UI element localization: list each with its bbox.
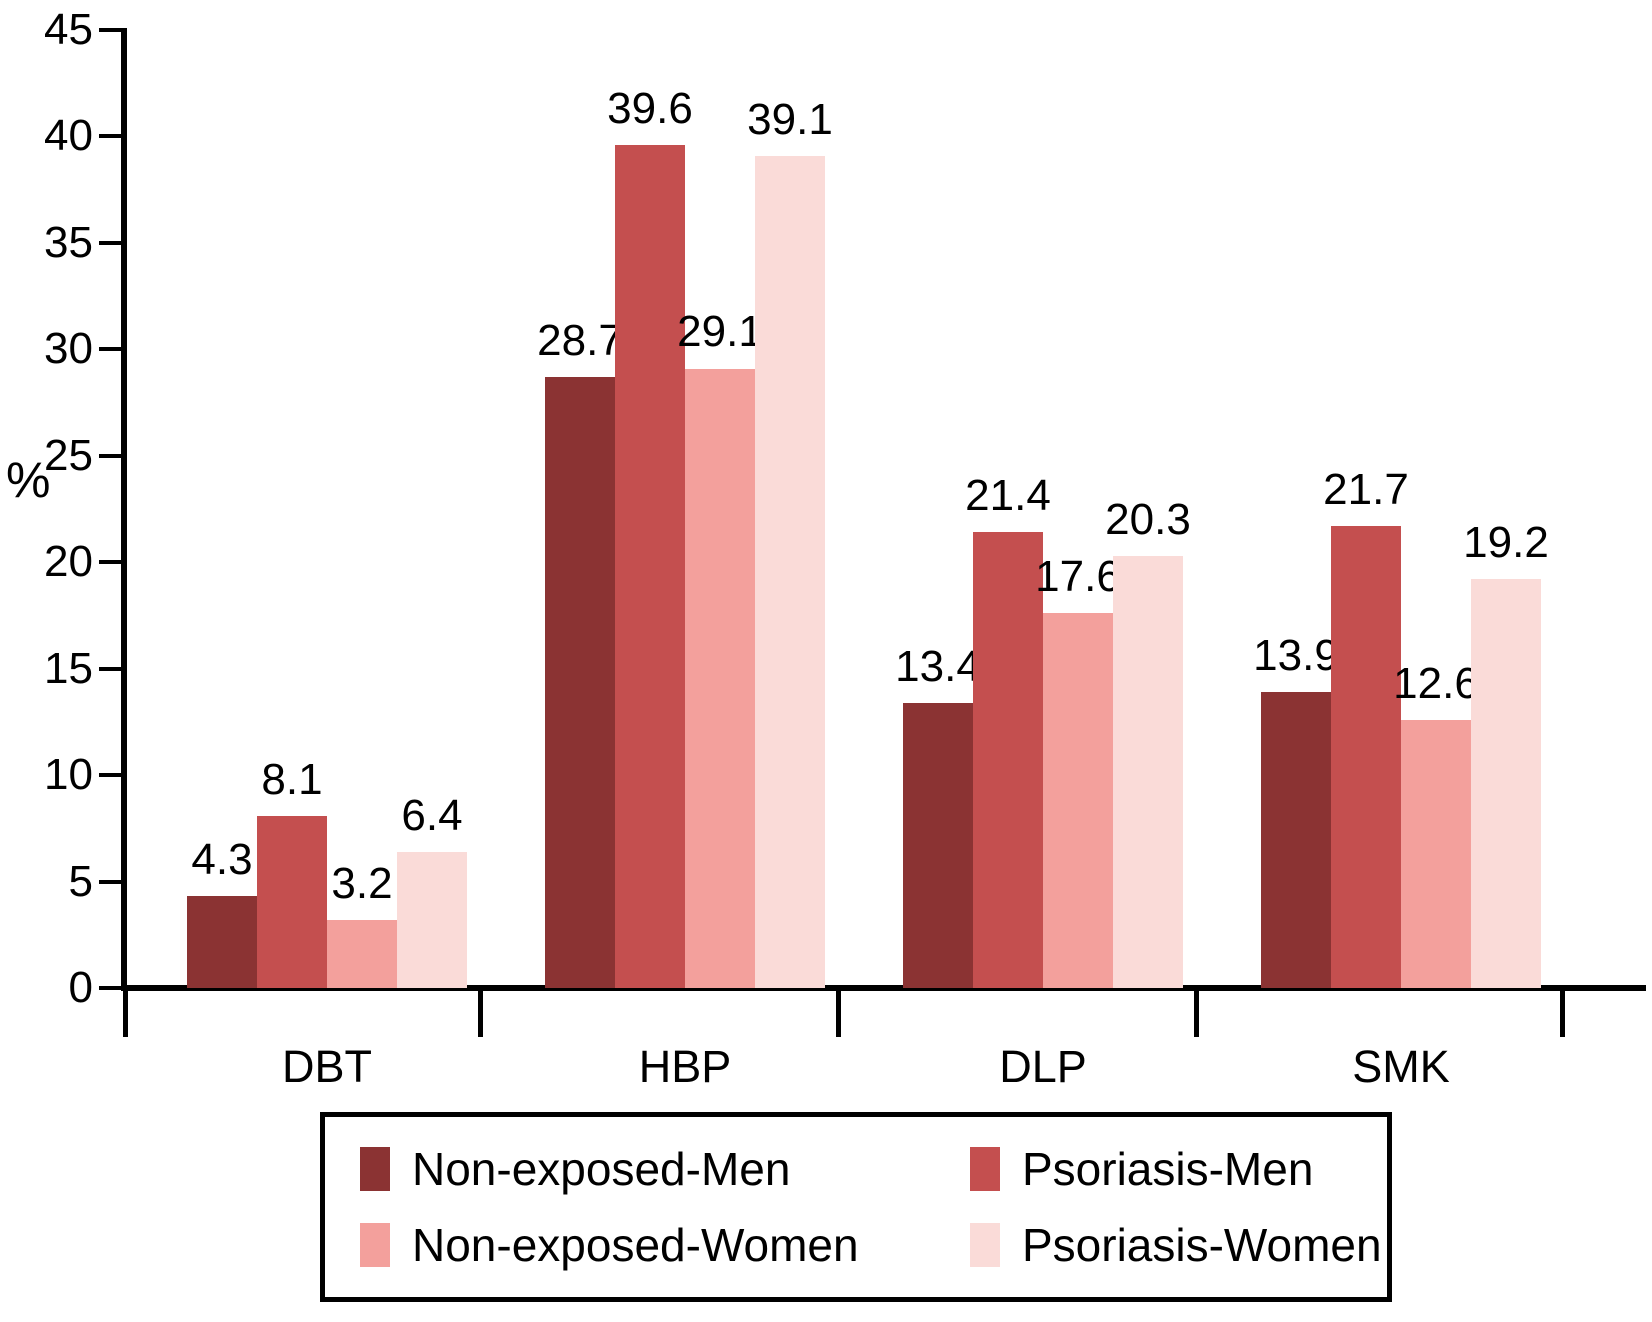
x-axis-category-label: SMK xyxy=(1271,1044,1531,1089)
legend-box: Non-exposed-Men Psoriasis-Men Non-expose… xyxy=(320,1112,1392,1302)
legend-item-non-exposed-women[interactable]: Non-exposed-Women xyxy=(360,1222,970,1268)
legend-item-label: Psoriasis-Women xyxy=(1022,1222,1382,1268)
bar-value-label: 8.1 xyxy=(232,758,352,802)
x-axis-tick xyxy=(1560,991,1565,1037)
bar[interactable] xyxy=(327,920,397,988)
legend-item-label: Psoriasis-Men xyxy=(1022,1146,1313,1192)
bar[interactable] xyxy=(615,145,685,988)
x-axis-tick xyxy=(123,991,128,1037)
bar[interactable] xyxy=(1331,526,1401,988)
x-axis-category-label: DLP xyxy=(913,1044,1173,1089)
bar[interactable] xyxy=(903,703,973,988)
bar[interactable] xyxy=(973,532,1043,988)
bar-value-label: 6.4 xyxy=(372,794,492,838)
x-axis-category-label: DBT xyxy=(197,1044,457,1089)
x-axis-tick xyxy=(478,991,483,1037)
legend-swatch-icon xyxy=(360,1223,390,1267)
legend-item-psoriasis-men[interactable]: Psoriasis-Men xyxy=(970,1146,1387,1192)
bar[interactable] xyxy=(1113,556,1183,988)
bar[interactable] xyxy=(187,896,257,988)
legend-item-psoriasis-women[interactable]: Psoriasis-Women xyxy=(970,1222,1387,1268)
bar-value-label: 39.1 xyxy=(730,98,850,142)
legend-swatch-icon xyxy=(970,1223,1000,1267)
bar-value-label: 19.2 xyxy=(1446,521,1566,565)
bar-value-label: 21.7 xyxy=(1306,468,1426,512)
chart-figure: % 051015202530354045 4.38.13.26.428.739.… xyxy=(0,0,1652,1322)
x-axis-tick xyxy=(836,991,841,1037)
bar[interactable] xyxy=(1471,579,1541,988)
legend-item-label: Non-exposed-Men xyxy=(412,1146,790,1192)
bar[interactable] xyxy=(755,156,825,988)
bar[interactable] xyxy=(1261,692,1331,988)
legend-item-non-exposed-men[interactable]: Non-exposed-Men xyxy=(360,1146,970,1192)
bar[interactable] xyxy=(1043,613,1113,988)
bar-series-container: 4.38.13.26.428.739.629.139.113.421.417.6… xyxy=(0,0,1652,988)
bar-value-label: 39.6 xyxy=(590,87,710,131)
legend-grid: Non-exposed-Men Psoriasis-Men Non-expose… xyxy=(325,1117,1387,1297)
x-axis-tick xyxy=(1194,991,1199,1037)
bar[interactable] xyxy=(397,852,467,988)
x-axis-category-label: HBP xyxy=(555,1044,815,1089)
bar[interactable] xyxy=(685,369,755,989)
bar[interactable] xyxy=(545,377,615,988)
legend-item-label: Non-exposed-Women xyxy=(412,1222,859,1268)
plot-area: % 051015202530354045 4.38.13.26.428.739.… xyxy=(0,0,1652,1040)
bar[interactable] xyxy=(1401,720,1471,988)
bar-value-label: 21.4 xyxy=(948,474,1068,518)
legend-swatch-icon xyxy=(970,1147,1000,1191)
bar-value-label: 20.3 xyxy=(1088,498,1208,542)
legend-swatch-icon xyxy=(360,1147,390,1191)
